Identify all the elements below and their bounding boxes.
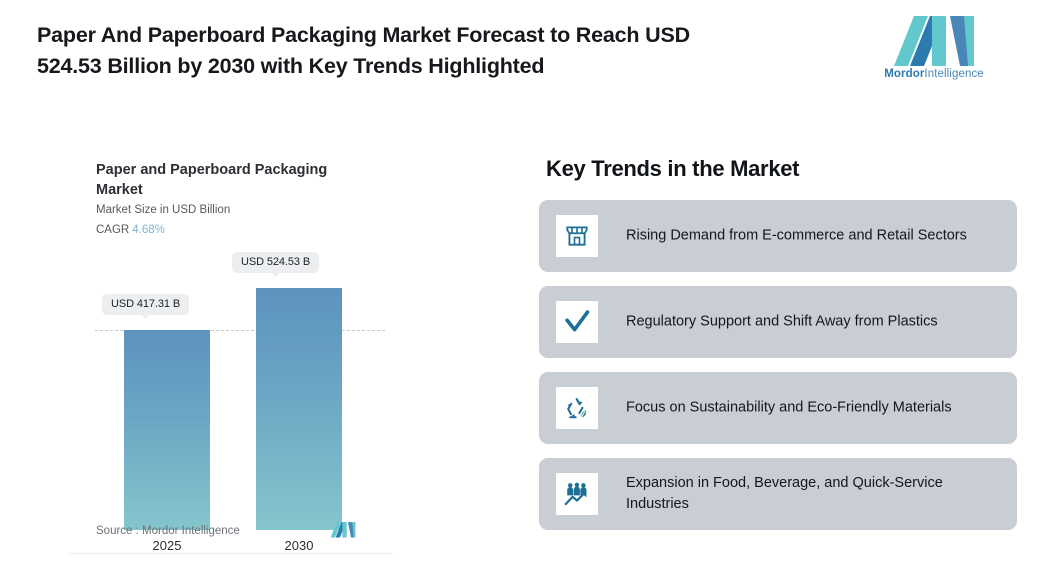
mordor-m-logo-icon <box>892 14 976 66</box>
trend-icon-box <box>556 473 598 515</box>
bar-2030 <box>256 288 342 530</box>
chart-plot-area: USD 417.31 B USD 524.53 B 2025 2030 <box>68 250 393 500</box>
axis-label-2025: 2025 <box>124 538 210 553</box>
trend-card-sustainability[interactable]: Focus on Sustainability and Eco-Friendly… <box>539 372 1017 444</box>
chart-source-label: Source : Mordor Intelligence <box>96 525 240 537</box>
market-size-chart-card: Paper and Paperboard Packaging Market Ma… <box>68 140 393 554</box>
chart-cagr: CAGR4.68% <box>96 224 165 236</box>
trend-icon-box <box>556 301 598 343</box>
headline-line-1: Paper And Paperboard Packaging Market Fo… <box>37 20 827 51</box>
trend-card-ecommerce-retail[interactable]: Rising Demand from E-commerce and Retail… <box>539 200 1017 272</box>
cagr-value: 4.68% <box>132 224 165 236</box>
trend-card-regulatory-support[interactable]: Regulatory Support and Shift Away from P… <box>539 286 1017 358</box>
headline-line-2: 524.53 Billion by 2030 with Key Trends H… <box>37 51 827 82</box>
axis-label-2030: 2030 <box>256 538 342 553</box>
people-growth-chart-icon <box>563 480 591 508</box>
recycle-leaf-icon <box>564 395 591 422</box>
page-title: Paper And Paperboard Packaging Market Fo… <box>37 20 827 82</box>
chart-subtitle: Market Size in USD Billion <box>96 204 230 216</box>
checkmark-icon <box>563 308 591 336</box>
chart-title: Paper and Paperboard Packaging Market <box>96 160 366 200</box>
key-trends-heading: Key Trends in the Market <box>546 156 799 182</box>
mordor-m-logo-small-icon <box>330 521 356 538</box>
bar-2025 <box>124 330 210 530</box>
trend-icon-box <box>556 215 598 257</box>
trend-label: Regulatory Support and Shift Away from P… <box>626 312 998 333</box>
mordor-intelligence-logo: MordorIntelligence <box>884 14 984 86</box>
logo-word-mordor: Mordor <box>884 68 924 80</box>
logo-word-intelligence: Intelligence <box>924 68 983 80</box>
trend-label: Expansion in Food, Beverage, and Quick-S… <box>626 473 998 515</box>
bar-value-badge-2030: USD 524.53 B <box>232 252 319 273</box>
trend-card-food-beverage-expansion[interactable]: Expansion in Food, Beverage, and Quick-S… <box>539 458 1017 530</box>
cagr-label: CAGR <box>96 224 129 236</box>
logo-wordmark: MordorIntelligence <box>884 68 984 80</box>
bar-value-badge-2025: USD 417.31 B <box>102 294 189 315</box>
trend-icon-box <box>556 387 598 429</box>
trend-label: Rising Demand from E-commerce and Retail… <box>626 226 998 247</box>
storefront-icon <box>564 223 590 249</box>
page-header: Paper And Paperboard Packaging Market Fo… <box>0 0 1059 110</box>
trend-label: Focus on Sustainability and Eco-Friendly… <box>626 398 998 419</box>
